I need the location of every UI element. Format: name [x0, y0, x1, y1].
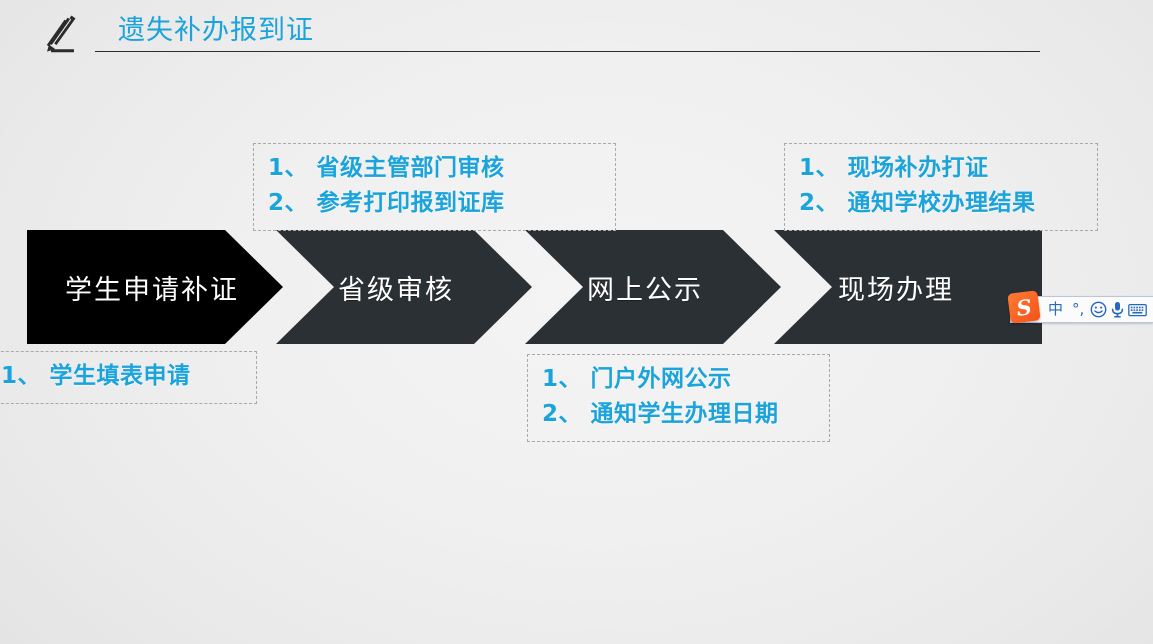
sogou-logo-letter: S	[1015, 296, 1033, 319]
page-header: 遗失补办报到证	[0, 0, 1153, 62]
note-line: 1、 现场补办打证	[799, 151, 1083, 186]
title-underline	[95, 51, 1040, 52]
page-title: 遗失补办报到证	[118, 14, 314, 48]
flow-step-label: 现场办理	[838, 268, 954, 307]
flow-step-label: 学生申请补证	[65, 268, 239, 307]
note-line: 2、 通知学校办理结果	[799, 186, 1083, 221]
note-line: 1、 门户外网公示	[542, 362, 815, 397]
note-line: 2、 参考打印报到证库	[268, 186, 601, 221]
note-student-apply: 1、 学生填表申请	[0, 351, 257, 404]
flow-step-label: 省级审核	[338, 268, 454, 307]
flow-step-onsite-processing[interactable]: 现场办理	[774, 230, 1042, 344]
punctuation-icon[interactable]: °,	[1069, 302, 1087, 317]
note-onsite-processing: 1、 现场补办打证 2、 通知学校办理结果	[784, 143, 1098, 231]
chinese-mode-icon[interactable]: 中	[1045, 302, 1066, 317]
pencil-icon	[42, 14, 86, 56]
process-flow: 学生申请补证 省级审核 网上公示 现场办理	[0, 230, 1153, 344]
note-online-publicity: 1、 门户外网公示 2、 通知学生办理日期	[527, 354, 830, 442]
emoji-icon[interactable]	[1090, 301, 1107, 318]
note-line: 2、 通知学生办理日期	[542, 397, 815, 432]
flow-step-student-apply[interactable]: 学生申请补证	[27, 230, 283, 344]
note-line: 1、 省级主管部门审核	[268, 151, 601, 186]
note-province-review: 1、 省级主管部门审核 2、 参考打印报到证库	[253, 143, 616, 231]
voice-input-icon[interactable]	[1110, 301, 1125, 318]
note-line: 1、 学生填表申请	[1, 359, 242, 394]
flow-step-label: 网上公示	[587, 268, 703, 307]
flow-step-province-review[interactable]: 省级审核	[276, 230, 532, 344]
soft-keyboard-icon[interactable]	[1128, 303, 1147, 317]
sogou-logo-icon[interactable]: S	[1007, 290, 1040, 323]
flow-step-online-publicity[interactable]: 网上公示	[525, 230, 781, 344]
